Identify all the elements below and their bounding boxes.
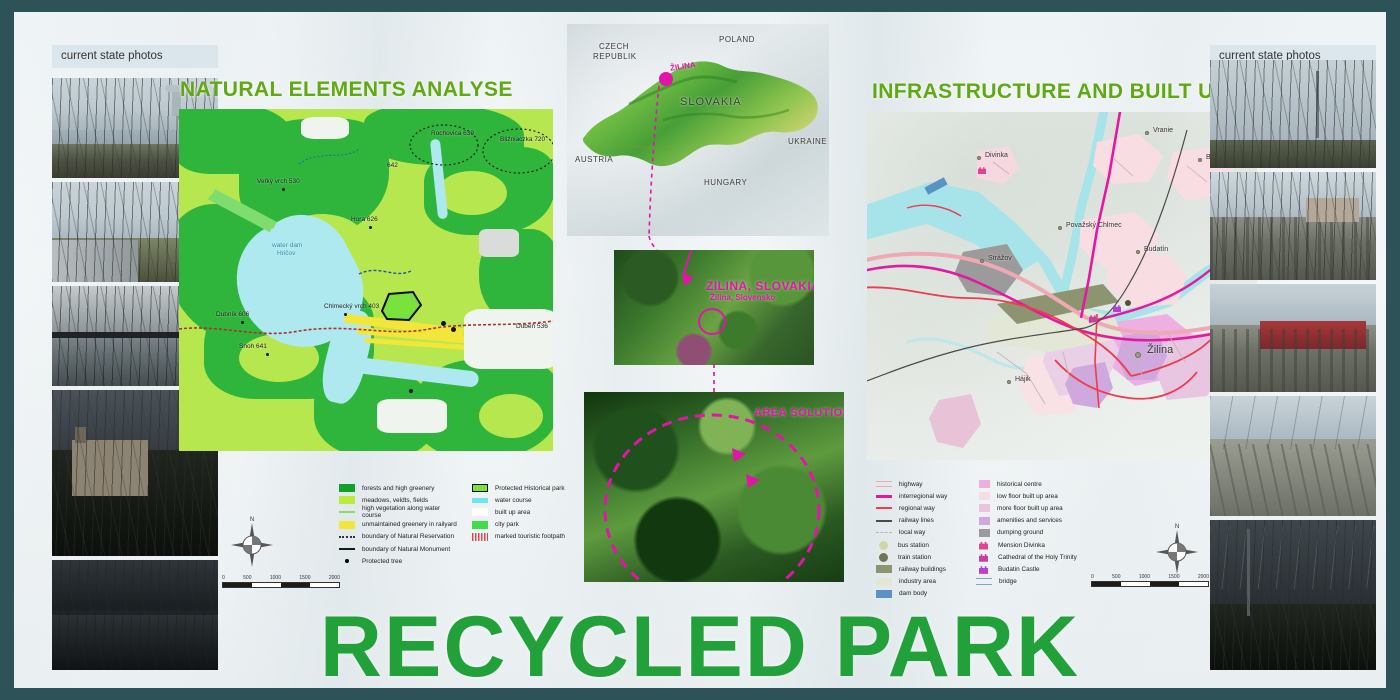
road-network-layer — [867, 112, 1257, 460]
city-dot — [1136, 250, 1140, 254]
legend-swatch-icon — [339, 521, 355, 529]
legend-amenities-icon — [979, 517, 990, 525]
scale-tick: 0 — [222, 575, 225, 581]
city-label: Budatín — [1144, 246, 1168, 253]
legend-label: boundary of Natural Reservation — [362, 533, 454, 540]
legend-low-floor-icon — [979, 492, 990, 500]
legend-item: forests and high greenery — [339, 482, 459, 494]
legend-train-station-icon — [879, 553, 888, 562]
legend-item: amenities and services — [976, 515, 1106, 527]
legend-railway-buildings-icon — [876, 565, 892, 573]
legend-item: dumping ground — [976, 527, 1106, 539]
photo-right-2 — [1210, 172, 1376, 280]
legend-label: boundary of Natural Monument — [362, 546, 450, 553]
scale-tick: 1000 — [270, 575, 281, 581]
satellite-image-mid[interactable]: ZILINA, SLOVAKIA Žilina, Slovensko — [614, 250, 814, 365]
scale-bar-right: 0 500 1000 1500 2000 — [1091, 574, 1209, 587]
scale-bar-graphic — [222, 582, 340, 588]
protected-tree-dot — [282, 188, 285, 191]
legend-item: built up area — [472, 506, 592, 518]
legend-hatch-icon — [472, 533, 488, 541]
scale-tick: 2000 — [1198, 574, 1209, 580]
protected-tree-dot — [441, 321, 446, 326]
legend-label: city park — [495, 521, 519, 528]
photo-trees — [1210, 60, 1376, 168]
legend-swatch-icon — [339, 496, 355, 504]
legend-railway-icon — [876, 520, 892, 522]
legend-label: local way — [899, 529, 925, 536]
photo-trees — [1210, 172, 1376, 280]
legend-item: more floor built up area — [976, 502, 1106, 514]
legend-label: train station — [898, 554, 931, 561]
legend-item: highway — [876, 478, 986, 490]
scale-tick: 500 — [1112, 574, 1120, 580]
legend-item: high vegetation along water course — [339, 506, 459, 518]
legend-item: low floor built up area — [976, 490, 1106, 502]
legend-item: water course — [472, 494, 592, 506]
legend-bus-station-icon — [879, 541, 888, 550]
compass-rose-right: N — [1154, 524, 1200, 576]
photo-right-3 — [1210, 284, 1376, 392]
city-label: Vranie — [1153, 127, 1173, 134]
legend-label: regional way — [899, 505, 935, 512]
legend-dotted-line-icon — [339, 536, 355, 538]
poster-board: current state photos NATURAL ELEMENTS AN… — [14, 12, 1386, 688]
legend-item: industry area — [876, 576, 986, 588]
legend-item: Protected Historical park — [472, 482, 592, 494]
legend-cathedral-icon — [979, 553, 988, 562]
slovakia-location-map[interactable]: CZECH REPUBLIK POLAND SLOVAKIA AUSTRIA H… — [567, 24, 829, 236]
legend-label: dam body — [899, 590, 927, 597]
overhead-lines — [1210, 396, 1376, 449]
protected-tree-dot — [409, 389, 413, 393]
legend-swatch-icon — [472, 508, 488, 516]
legend-item: city park — [472, 519, 592, 531]
legend-item: boundary of Natural Monument — [339, 543, 459, 555]
map-label: Hričov — [277, 250, 295, 257]
protected-tree-dot — [344, 313, 347, 316]
compass-rose-left: N — [229, 517, 275, 569]
protected-tree-dot — [241, 321, 244, 324]
legend-label: historical centre — [997, 481, 1042, 488]
legend-more-floor-icon — [979, 504, 990, 512]
map-label: Chlmecký vrch 403 — [324, 303, 379, 310]
legend-label: Protected tree — [362, 558, 402, 565]
photo-rails — [1210, 444, 1376, 516]
legend-label: Protected Historical park — [495, 485, 565, 492]
legend-label: railway buildings — [899, 566, 946, 573]
legend-item: railway buildings — [876, 563, 986, 575]
poster-frame: current state photos NATURAL ELEMENTS AN… — [0, 0, 1400, 700]
train-station-dot — [1125, 300, 1131, 306]
legend-label: forests and high greenery — [362, 485, 434, 492]
satellite-mid-subtitle: Žilina, Slovensko — [710, 293, 775, 302]
map-label: Dubeň 536 — [516, 323, 548, 330]
legend-label: low floor built up area — [997, 493, 1058, 500]
scale-bar-left: 0 500 1000 1500 2000 — [222, 575, 340, 588]
legend-label: interregional way — [899, 493, 947, 500]
legend-item: unmaintained greenery in railyard — [339, 519, 459, 531]
legend-item: bridge — [976, 576, 1106, 588]
infrastructure-map[interactable]: Divinka Vranie Brodno Považský Chlmec Bu… — [867, 112, 1257, 460]
legend-label: Budatin Castle — [998, 566, 1040, 573]
legend-item: interregional way — [876, 490, 986, 502]
legend-line-icon — [339, 511, 355, 513]
legend-label: more floor built up area — [997, 505, 1063, 512]
map-label: water dam — [272, 242, 302, 249]
legend-swatch-icon — [472, 521, 488, 529]
map-label: Snoh 641 — [239, 343, 267, 350]
area-solution-boundary — [584, 392, 844, 582]
satellite-image-bottom[interactable]: AREA SOLUTION — [584, 392, 844, 582]
area-solution-title: AREA SOLUTION — [754, 407, 844, 419]
map-label: Rochovica 639 — [431, 130, 474, 137]
protected-tree-dot — [369, 226, 372, 229]
legend-label: high vegetation along water course — [362, 505, 459, 519]
legend-label: Cathedral of the Holy Trinity — [998, 554, 1077, 561]
legend-regional-icon — [876, 507, 892, 509]
map-label: Veľký vrch 530 — [257, 178, 300, 185]
natural-legend-right: Protected Historical park water course b… — [472, 482, 592, 543]
page-title: RECYCLED PARK — [14, 598, 1386, 688]
legend-localway-icon — [876, 532, 892, 533]
legend-item: boundary of Natural Reservation — [339, 531, 459, 543]
city-label: Hájik — [1015, 376, 1031, 383]
legend-budatin-castle-icon — [979, 565, 988, 574]
legend-mension-divinka-icon — [979, 541, 988, 550]
legend-item: railway lines — [876, 515, 986, 527]
city-dot — [1135, 352, 1141, 358]
map-label: Hora 626 — [351, 216, 378, 223]
scale-tick: 1500 — [1168, 574, 1179, 580]
scale-bar-graphic — [1091, 581, 1209, 587]
natural-legend-left: forests and high greenery meadows, veldt… — [339, 482, 459, 567]
legend-swatch-icon — [339, 484, 355, 492]
legend-label: dumping ground — [997, 529, 1043, 536]
map-label: 642 — [387, 162, 398, 169]
legend-item: Protected tree — [339, 555, 459, 567]
city-dot — [980, 259, 984, 263]
map-boundaries — [179, 109, 553, 451]
city-label: Považský Chlmec — [1066, 222, 1122, 229]
legend-label: railway lines — [899, 517, 934, 524]
legend-label: unmaintained greenery in railyard — [362, 521, 457, 528]
city-dot — [1198, 158, 1202, 162]
infra-legend-left: highway interregional way regional way r… — [876, 478, 986, 600]
legend-item: local way — [876, 527, 986, 539]
photo-right-4 — [1210, 396, 1376, 516]
legend-label: industry area — [899, 578, 936, 585]
scale-tick: 500 — [243, 575, 251, 581]
legend-industry-icon — [876, 578, 892, 586]
compass-icon — [229, 523, 275, 575]
connector-line — [567, 24, 829, 236]
legend-historical-centre-icon — [979, 480, 990, 488]
left-photos-tag: current state photos — [52, 45, 218, 68]
legend-bridge-icon — [976, 578, 992, 585]
legend-item: marked touristic footpath — [472, 531, 592, 543]
legend-item: historical centre — [976, 478, 1106, 490]
city-label: Divinka — [985, 152, 1008, 159]
city-dot — [1145, 131, 1149, 135]
connector-line-bottom — [614, 364, 814, 394]
legend-item: Mension Divinka — [976, 539, 1106, 551]
legend-label: built up area — [495, 509, 530, 516]
legend-item: train station — [876, 551, 986, 563]
legend-item: Budatin Castle — [976, 563, 1106, 575]
legend-dumping-ground-icon — [979, 529, 990, 537]
legend-dot-icon — [345, 559, 349, 563]
site-arrow — [614, 250, 814, 365]
legend-label: Mension Divinka — [998, 542, 1045, 549]
natural-elements-map[interactable]: Rochovica 639 Bliźniaczka 720 642 Veľký … — [179, 109, 553, 451]
photo-right-1 — [1210, 60, 1376, 168]
photo-rails — [1210, 329, 1376, 392]
scale-tick: 1500 — [299, 575, 310, 581]
legend-dam-body-icon — [876, 590, 892, 598]
infra-legend-right: historical centre low floor built up are… — [976, 478, 1106, 588]
protected-tree-dot — [266, 353, 269, 356]
legend-swatch-icon — [472, 498, 488, 503]
city-label: Žilina — [1147, 344, 1173, 356]
legend-item: Cathedral of the Holy Trinity — [976, 551, 1106, 563]
scale-tick: 2000 — [329, 575, 340, 581]
city-label: Strážov — [988, 255, 1012, 262]
legend-line-icon — [339, 548, 355, 550]
legend-label: highway — [899, 481, 922, 488]
legend-label: meadows, veldts, fields — [362, 497, 428, 504]
city-dot — [1007, 380, 1011, 384]
legend-item: bus station — [876, 539, 986, 551]
left-panel-heading: NATURAL ELEMENTS ANALYSE — [180, 78, 513, 102]
protected-tree-dot — [451, 327, 456, 332]
legend-framed-swatch-icon — [472, 484, 488, 492]
city-dot — [1058, 226, 1062, 230]
legend-label: marked touristic footpath — [495, 533, 565, 540]
map-label: Dubník 606 — [216, 311, 249, 318]
legend-interregional-icon — [876, 495, 892, 499]
scale-tick: 1000 — [1139, 574, 1150, 580]
map-label: Bliźniaczka 720 — [500, 136, 545, 143]
legend-label: bridge — [999, 578, 1017, 585]
scale-ticks: 0 500 1000 1500 2000 — [222, 575, 340, 581]
legend-highway-icon — [876, 481, 892, 487]
legend-label: bus station — [898, 542, 929, 549]
legend-item: regional way — [876, 502, 986, 514]
city-dot — [977, 156, 981, 160]
satellite-mid-title: ZILINA, SLOVAKIA — [706, 279, 814, 293]
scale-ticks: 0 500 1000 1500 2000 — [1091, 574, 1209, 580]
legend-label: amenities and services — [997, 517, 1062, 524]
legend-label: water course — [495, 497, 532, 504]
scale-tick: 0 — [1091, 574, 1094, 580]
